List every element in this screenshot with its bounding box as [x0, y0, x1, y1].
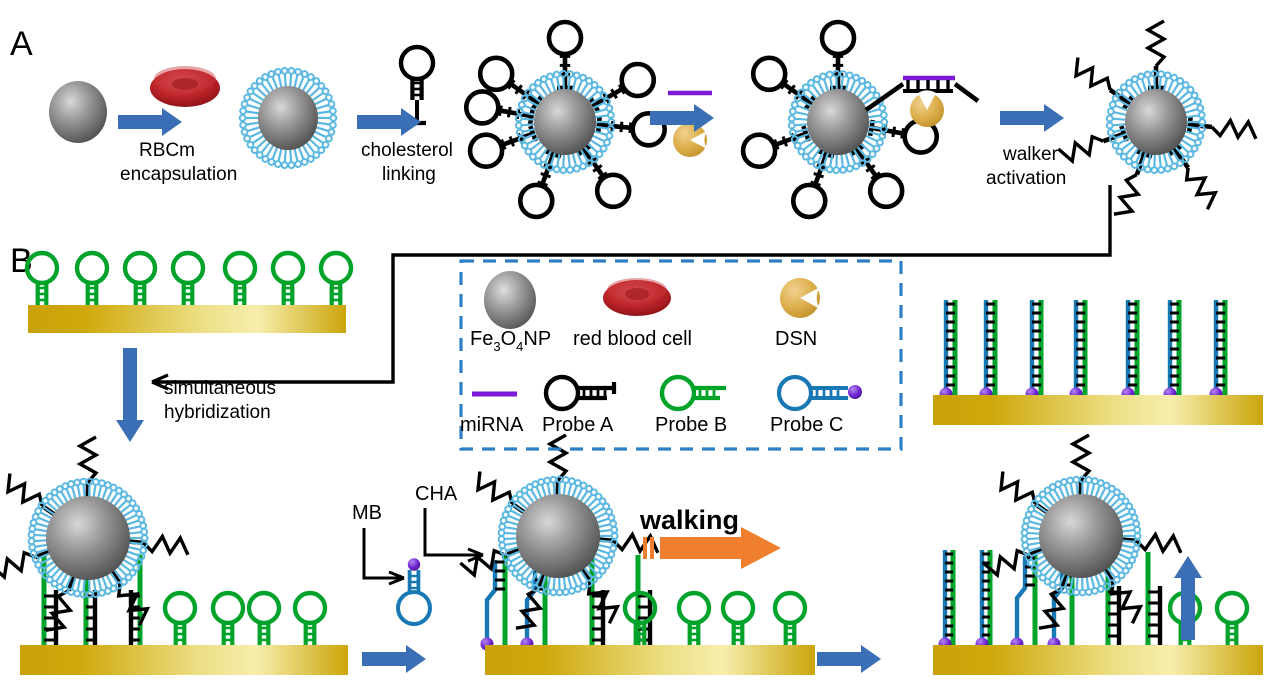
probe-b-hairpin — [173, 253, 203, 307]
probe-b-hairpin — [165, 593, 195, 647]
step-label-cholesterol-line1: cholesterol — [361, 140, 453, 161]
probe-b-hairpin — [679, 593, 709, 647]
step-label-walker-line1: walker — [1002, 144, 1059, 165]
probe-b-hairpin — [1217, 593, 1247, 647]
probe-b-hairpin — [77, 253, 107, 307]
walker-on-substrate-stage3 — [933, 435, 1263, 675]
dsn-pacman-icon-1 — [673, 123, 707, 157]
step-label-walker-line2: activation — [986, 168, 1066, 189]
gold-substrate-2 — [20, 645, 348, 675]
schematic-svg: A RBCm encapsulation — [0, 0, 1268, 685]
probe-b-hairpin — [249, 593, 279, 647]
step-label-cholesterol-line2: linking — [382, 164, 436, 185]
legend-item-mirna: miRNA — [460, 394, 524, 436]
probe-a-decorated-particle-2 — [743, 22, 937, 217]
step-label-hybridization-line2: hybridization — [164, 402, 271, 423]
arrow-stage2-to-stage3 — [817, 645, 881, 673]
step-label-rbcm-line2: encapsulation — [120, 164, 237, 185]
arrow-simultaneous-hybridization — [116, 348, 144, 442]
rbcm-coated-nanoparticle-icon — [240, 68, 337, 169]
free-probe-c-mb-icon — [398, 558, 430, 624]
probe-b-hairpin — [723, 593, 753, 647]
legend-item-rbc: red blood cell — [573, 278, 692, 350]
bare-nanoparticle-icon — [49, 81, 107, 143]
final-duplex-array — [933, 300, 1263, 425]
walker-on-substrate-stage1 — [0, 437, 348, 675]
legend-label-rbc: red blood cell — [573, 328, 692, 350]
legend-label-probe-a: Probe A — [542, 414, 614, 436]
callout-label-mb: MB — [352, 502, 382, 524]
legend-label-probe-b: Probe B — [655, 414, 727, 436]
gold-substrate-3 — [485, 645, 815, 675]
red-blood-cell-icon — [150, 66, 220, 107]
dsn-pacman-icon-legend — [780, 278, 820, 318]
step-label-rbcm-line1: RBCm — [139, 140, 195, 161]
probe-b-hairpin — [273, 253, 303, 307]
legend-item-probe-b: Probe B — [655, 377, 727, 436]
black-hairpin-icon — [546, 377, 614, 409]
legend-box: Fe3O4NP red blood cell DSN miRNA — [460, 261, 901, 449]
arrow-stage1-to-stage2 — [362, 645, 426, 673]
probe-b-hairpin — [213, 593, 243, 647]
gray-sphere-icon — [484, 271, 536, 329]
arrow-cholesterol-linking — [357, 108, 421, 136]
legend-item-dsn: DSN — [775, 278, 820, 350]
legend-item-probe-c: Probe C — [770, 377, 862, 436]
dsn-pacman-icon-2 — [910, 90, 944, 127]
legend-label-probe-c: Probe C — [770, 414, 843, 436]
probe-b-hairpin — [125, 253, 155, 307]
probe-b-hairpin — [321, 253, 351, 307]
panel-a-letter: A — [10, 25, 33, 63]
callout-label-cha: CHA — [415, 483, 458, 505]
legend-label-dsn: DSN — [775, 328, 817, 350]
green-hairpin-icon — [662, 377, 726, 409]
callout-line-mb — [364, 528, 404, 584]
probe-b-hairpin — [295, 593, 325, 647]
step-label-hybridization-line1: simultaneous — [164, 378, 276, 399]
blue-hairpin-dot-icon — [779, 377, 862, 409]
callout-line-cha — [425, 508, 483, 561]
red-blood-cell-icon-legend — [603, 278, 671, 316]
walker-particle-stage3 — [983, 435, 1181, 628]
probe-b-hairpin — [225, 253, 255, 307]
legend-item-probe-a: Probe A — [542, 377, 614, 436]
panel-a: A RBCm encapsulation — [10, 21, 1256, 217]
activated-walker-particle — [1058, 21, 1256, 214]
probe-b-hairpin — [775, 593, 805, 647]
gold-substrate-5 — [933, 395, 1263, 425]
substrate-probe-b-array — [27, 253, 351, 333]
legend-label-mirna: miRNA — [460, 414, 524, 436]
probe-a-decorated-particle-1 — [466, 22, 664, 217]
arrow-walker-activation — [1000, 104, 1064, 132]
legend-item-fe3o4np: Fe3O4NP — [470, 271, 551, 354]
walking-label: walking — [639, 505, 739, 535]
arrow-rbcm-encapsulation — [118, 108, 182, 136]
gold-substrate-1 — [28, 305, 346, 333]
figure-canvas: A RBCm encapsulation — [0, 0, 1268, 685]
gold-substrate-4 — [933, 645, 1263, 675]
legend-label-fe3o4np: Fe3O4NP — [470, 328, 551, 354]
